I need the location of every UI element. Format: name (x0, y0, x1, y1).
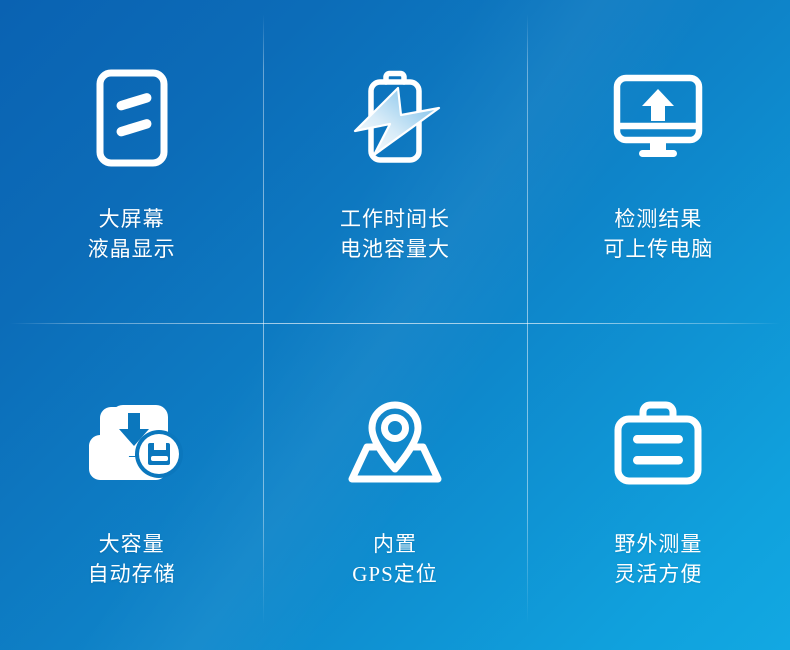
feature-label-line2: 自动存储 (88, 559, 176, 589)
feature-cell-lcd-screen[interactable]: 大屏幕 液晶显示 (0, 0, 263, 325)
feature-cell-field-measurement[interactable]: 野外测量 灵活方便 (527, 325, 790, 650)
feature-label-line2: 液晶显示 (88, 234, 176, 264)
feature-label-line2: 可上传电脑 (603, 234, 713, 264)
map-pin-icon (345, 383, 445, 503)
feature-label-line1: 大容量 (88, 529, 176, 559)
feature-label-line2: 灵活方便 (614, 559, 702, 589)
feature-label-line1: 检测结果 (603, 204, 713, 234)
feature-label: 内置 GPS定位 (352, 529, 438, 590)
feature-label: 检测结果 可上传电脑 (603, 204, 713, 265)
feature-cell-upload-to-pc[interactable]: 检测结果 可上传电脑 (527, 0, 790, 325)
feature-cell-auto-storage[interactable]: 大容量 自动存储 (0, 325, 263, 650)
briefcase-icon (611, 383, 705, 503)
feature-label-line1: 工作时间长 (340, 204, 450, 234)
feature-label: 野外测量 灵活方便 (614, 529, 702, 590)
feature-label: 工作时间长 电池容量大 (340, 204, 450, 265)
battery-bolt-icon (341, 58, 449, 178)
feature-label-line2: GPS定位 (352, 559, 438, 589)
lcd-screen-icon (95, 58, 169, 178)
feature-label-line1: 野外测量 (614, 529, 702, 559)
feature-label-line1: 大屏幕 (88, 204, 176, 234)
monitor-upload-icon (612, 58, 704, 178)
feature-label: 大容量 自动存储 (88, 529, 176, 590)
feature-cell-battery-life[interactable]: 工作时间长 电池容量大 (263, 0, 526, 325)
feature-cell-gps[interactable]: 内置 GPS定位 (263, 325, 526, 650)
storage-download-icon (80, 383, 184, 503)
feature-grid-panel: 大屏幕 液晶显示 (0, 0, 790, 650)
feature-label: 大屏幕 液晶显示 (88, 204, 176, 265)
feature-label-line2: 电池容量大 (340, 234, 450, 264)
feature-grid: 大屏幕 液晶显示 (0, 0, 790, 650)
feature-label-line1: 内置 (352, 529, 438, 559)
